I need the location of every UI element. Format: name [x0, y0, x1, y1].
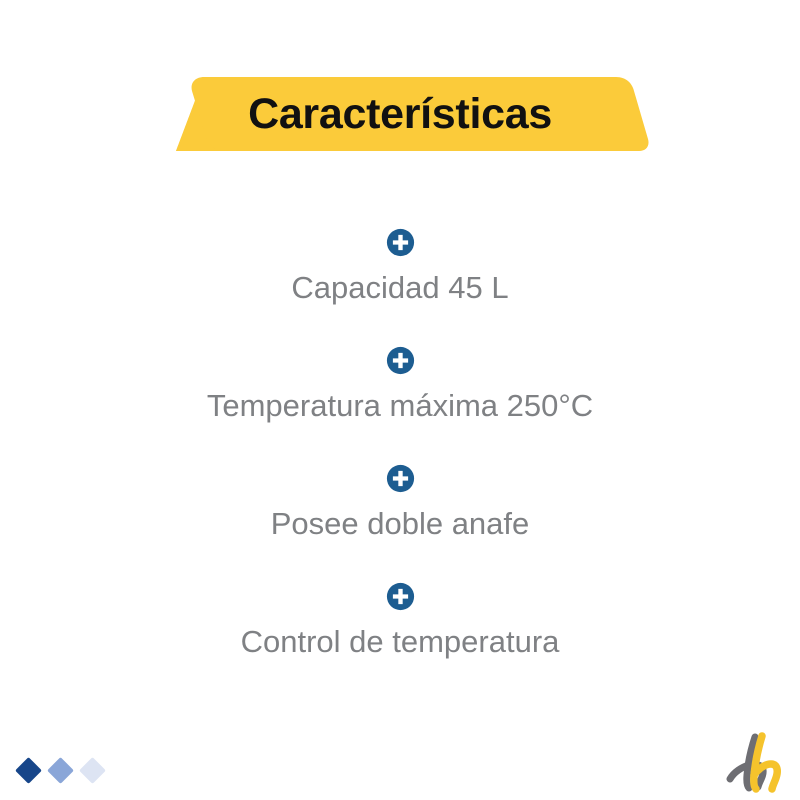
brand-h-logo: [718, 731, 784, 795]
diamond-decoration: [19, 755, 129, 785]
plus-circle-icon: [386, 582, 415, 611]
plus-circle-icon: [386, 228, 415, 257]
feature-label: Capacidad 45 L: [291, 271, 508, 304]
brand-h-logo-icon: [718, 731, 784, 795]
plus-circle-icon: [386, 346, 415, 375]
diamond-light-icon: [79, 757, 106, 784]
feature-list: Capacidad 45 L Temperatura máxima 250°C …: [0, 228, 800, 700]
banner: Características: [0, 77, 800, 151]
feature-item: Posee doble anafe: [0, 464, 800, 582]
feature-card: Características Capacidad 45 L Temperatu…: [0, 0, 800, 800]
feature-item: Capacidad 45 L: [0, 228, 800, 346]
feature-label: Temperatura máxima 250°C: [207, 389, 593, 422]
plus-circle-icon: [386, 464, 415, 493]
feature-item: Temperatura máxima 250°C: [0, 346, 800, 464]
diamond-dark-icon: [15, 757, 42, 784]
feature-label: Posee doble anafe: [271, 507, 530, 540]
diamond-medium-icon: [47, 757, 74, 784]
page-title: Características: [0, 77, 800, 151]
feature-label: Control de temperatura: [241, 625, 560, 658]
feature-item: Control de temperatura: [0, 582, 800, 700]
